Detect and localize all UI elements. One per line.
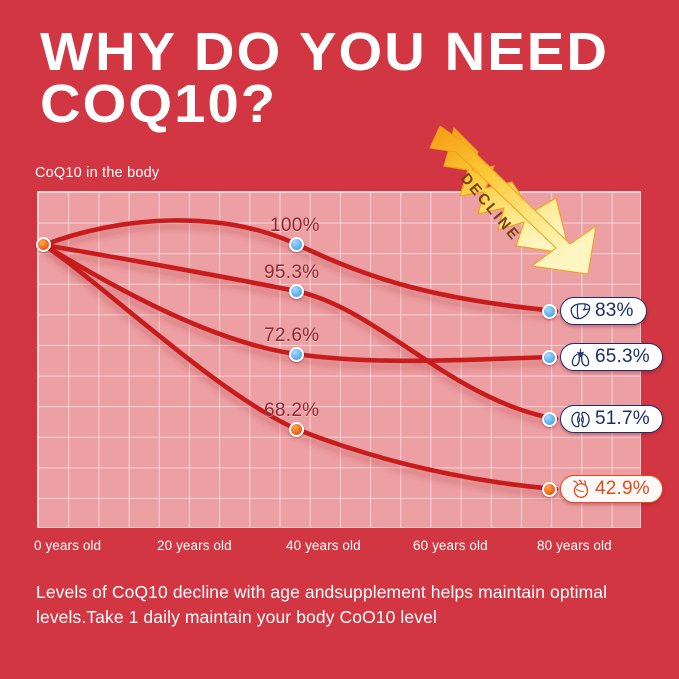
footer-line-2: levels.Take 1 daily maintain your body C… xyxy=(36,605,650,630)
mid-marker-kidneys xyxy=(289,347,304,362)
pill-liver[interactable]: 83% xyxy=(560,297,647,325)
title-line-1: WHY DO YOU NEED xyxy=(40,26,674,78)
x-tick-0: 0 years old xyxy=(34,538,101,553)
x-axis: 0 years old 20 years old 40 years old 60… xyxy=(37,538,641,558)
pill-lungs[interactable]: 65.3% xyxy=(560,343,663,371)
x-tick-60: 60 years old xyxy=(413,538,488,553)
heart-icon xyxy=(569,479,592,500)
lungs-icon xyxy=(569,347,592,368)
mid-label-lungs: 95.3% xyxy=(264,262,319,284)
kidneys-icon xyxy=(569,409,592,430)
mid-marker-lungs xyxy=(289,284,304,299)
x-tick-80: 80 years old xyxy=(537,538,612,553)
mid-label-liver: 100% xyxy=(270,215,320,237)
footer-line-1: Levels of CoQ10 decline with age andsupp… xyxy=(36,580,650,605)
mid-marker-liver xyxy=(289,237,304,252)
pill-kidneys[interactable]: 51.7% xyxy=(560,405,663,433)
mid-label-heart: 68.2% xyxy=(264,400,319,422)
x-tick-20: 20 years old xyxy=(157,538,232,553)
mid-marker-heart xyxy=(289,422,304,437)
infographic-root: WHY DO YOU NEED COQ10? CoQ10 in the body xyxy=(0,0,679,679)
x-tick-40: 40 years old xyxy=(286,538,361,553)
end-marker-kidneys xyxy=(542,412,557,427)
chart-axis-label: CoQ10 in the body xyxy=(35,165,159,181)
mid-label-kidneys: 72.6% xyxy=(264,325,319,347)
footer-caption: Levels of CoQ10 decline with age andsupp… xyxy=(36,580,650,630)
end-marker-heart xyxy=(542,482,557,497)
end-marker-lungs xyxy=(542,350,557,365)
end-marker-liver xyxy=(542,304,557,319)
pill-value-kidneys: 51.7% xyxy=(595,408,650,430)
pill-value-lungs: 65.3% xyxy=(595,346,650,368)
page-title: WHY DO YOU NEED COQ10? xyxy=(40,26,650,130)
pill-heart[interactable]: 42.9% xyxy=(560,475,663,503)
title-line-2: COQ10? xyxy=(40,78,674,130)
pill-value-liver: 83% xyxy=(595,300,634,322)
pill-value-heart: 42.9% xyxy=(595,478,650,500)
origin-marker xyxy=(36,237,51,252)
liver-icon xyxy=(569,301,592,322)
